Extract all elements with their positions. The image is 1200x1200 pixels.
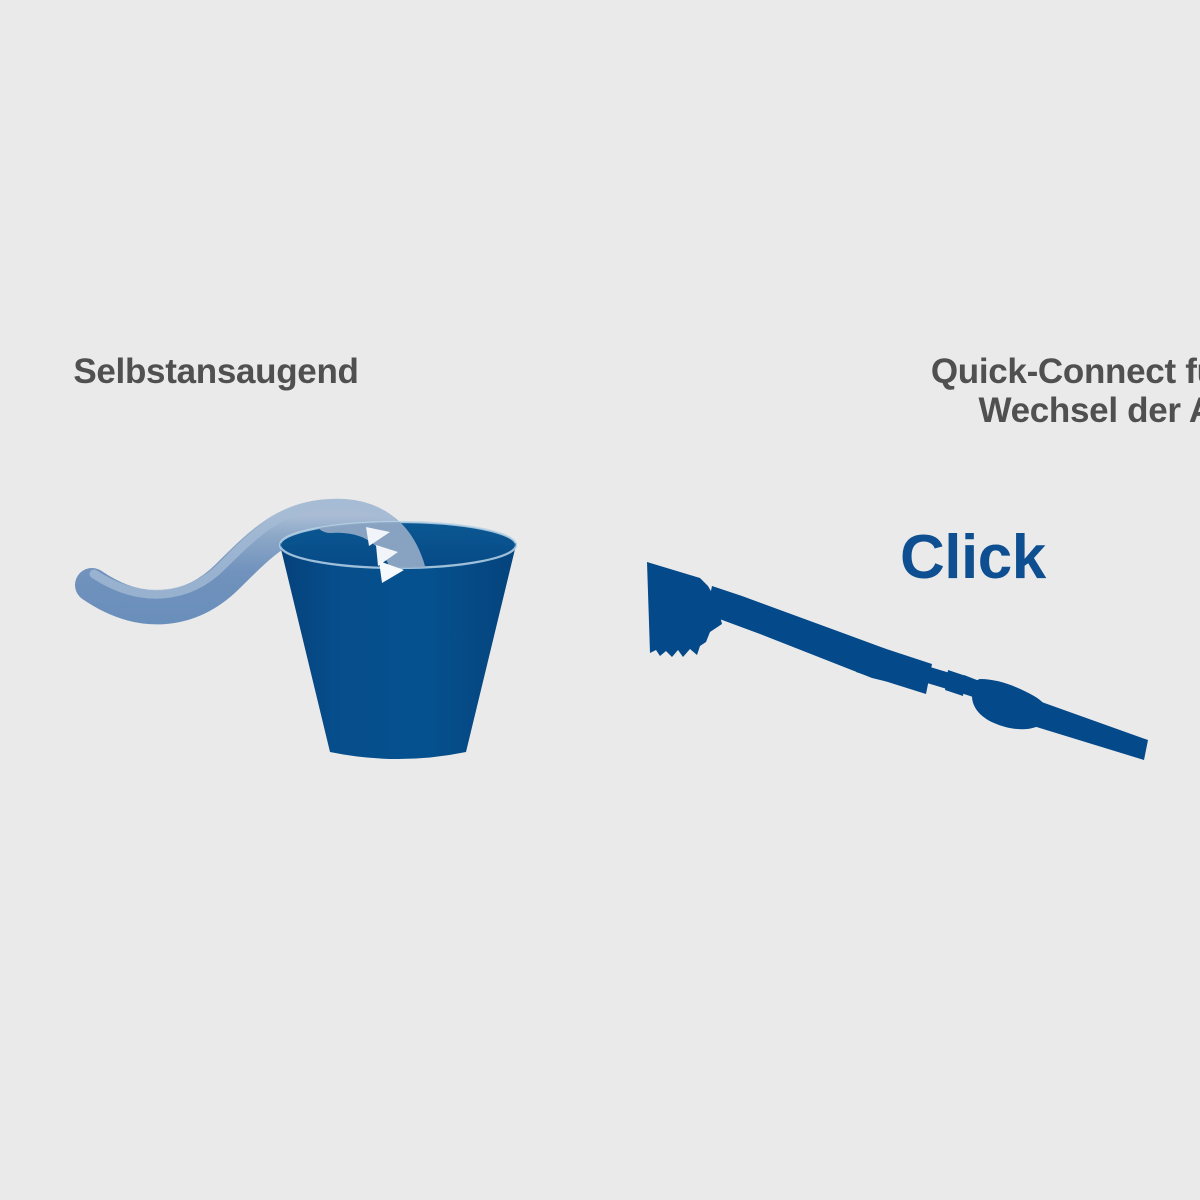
panel-quick-connect: Quick-Connect für schnellen Wechsel der … bbox=[600, 0, 1200, 1200]
click-badge-label: Click bbox=[900, 522, 1046, 593]
panel-title-quick-connect: Quick-Connect für schnellen Wechsel der … bbox=[865, 352, 1200, 430]
illustration-canvas: Selbstansaugend Quick-Connect für schnel… bbox=[0, 0, 1200, 1200]
panel-self-priming: Selbstansaugend bbox=[0, 0, 600, 1200]
panel-title-self-priming: Selbstansaugend bbox=[0, 352, 516, 391]
